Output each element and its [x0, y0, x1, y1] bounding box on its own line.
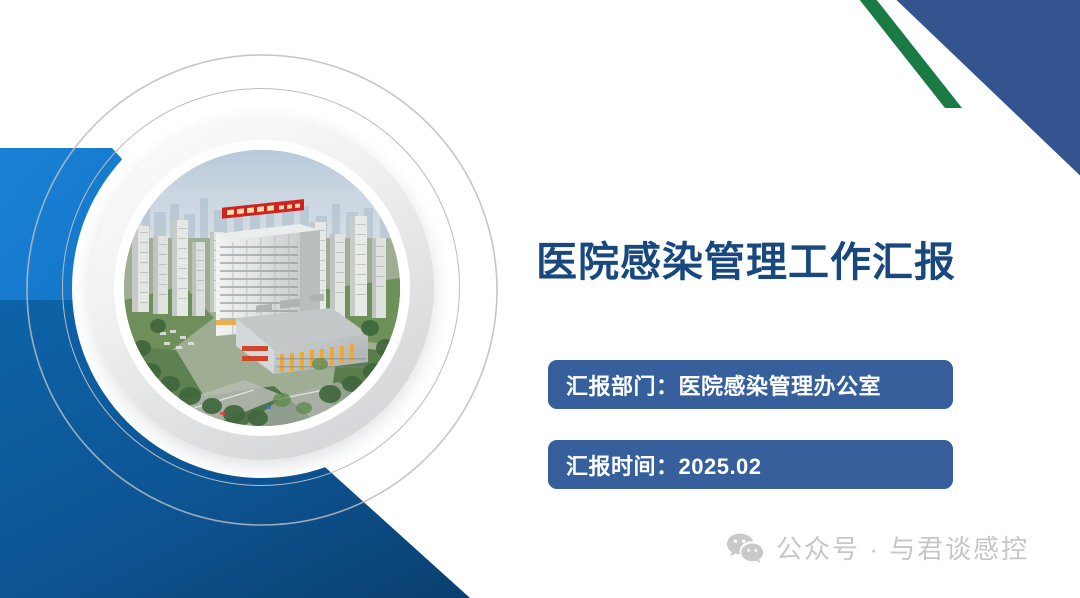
report-department-box: 汇报部门：医院感染管理办公室 — [548, 360, 953, 409]
hospital-aerial-image — [124, 150, 400, 426]
decoration-green-stripe — [855, 0, 962, 108]
report-date-label: 汇报时间：2025.02 — [548, 449, 762, 481]
report-date-box: 汇报时间：2025.02 — [548, 440, 953, 489]
hospital-photo-medallion — [62, 88, 462, 488]
page-title: 医院感染管理工作汇报 — [536, 228, 956, 288]
watermark: 公众号 · 与君谈感控 — [726, 529, 1029, 566]
hospital-photo — [124, 150, 400, 426]
report-department-label: 汇报部门：医院感染管理办公室 — [548, 369, 881, 401]
decoration-navy-triangle — [886, 0, 1080, 185]
presentation-title-slide: 医院感染管理工作汇报 汇报部门：医院感染管理办公室 汇报时间：2025.02 公… — [0, 0, 1080, 598]
wechat-icon — [726, 532, 764, 564]
watermark-text: 公众号 · 与君谈感控 — [776, 529, 1029, 566]
